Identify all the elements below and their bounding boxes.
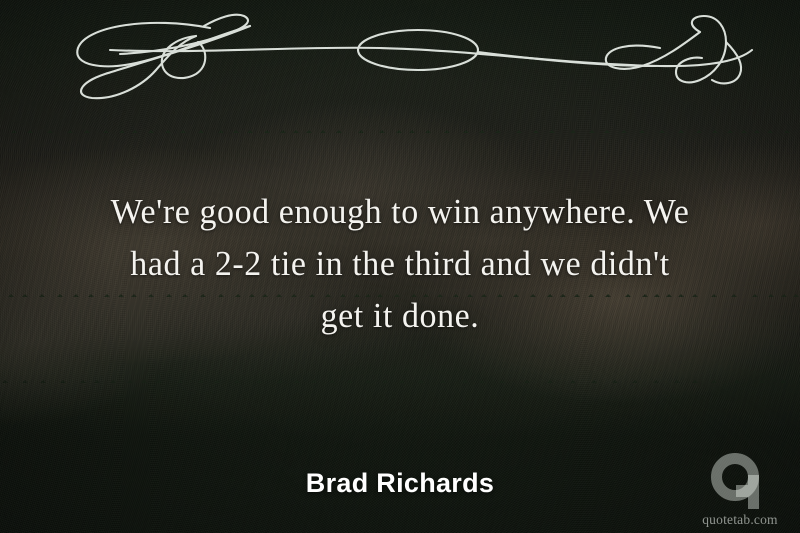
quote-author: Brad Richards [0, 468, 800, 499]
quote-line: We're good enough to win anywhere. We [51, 186, 749, 238]
logo-notch [736, 485, 748, 497]
watermark-site-label[interactable]: quotetab.com [692, 512, 788, 527]
flourish-divider-icon [0, 8, 800, 100]
quote-card: We're good enough to win anywhere. We ha… [0, 0, 800, 533]
quote-line: had a 2-2 tie in the third and we didn't [51, 238, 749, 290]
quotetab-q-logo-icon[interactable] [711, 453, 769, 511]
quote-line: get it done. [51, 290, 749, 342]
watermark[interactable]: quotetab.com [692, 453, 788, 527]
logo-stem [748, 475, 759, 509]
quote-text: We're good enough to win anywhere. We ha… [51, 186, 749, 342]
